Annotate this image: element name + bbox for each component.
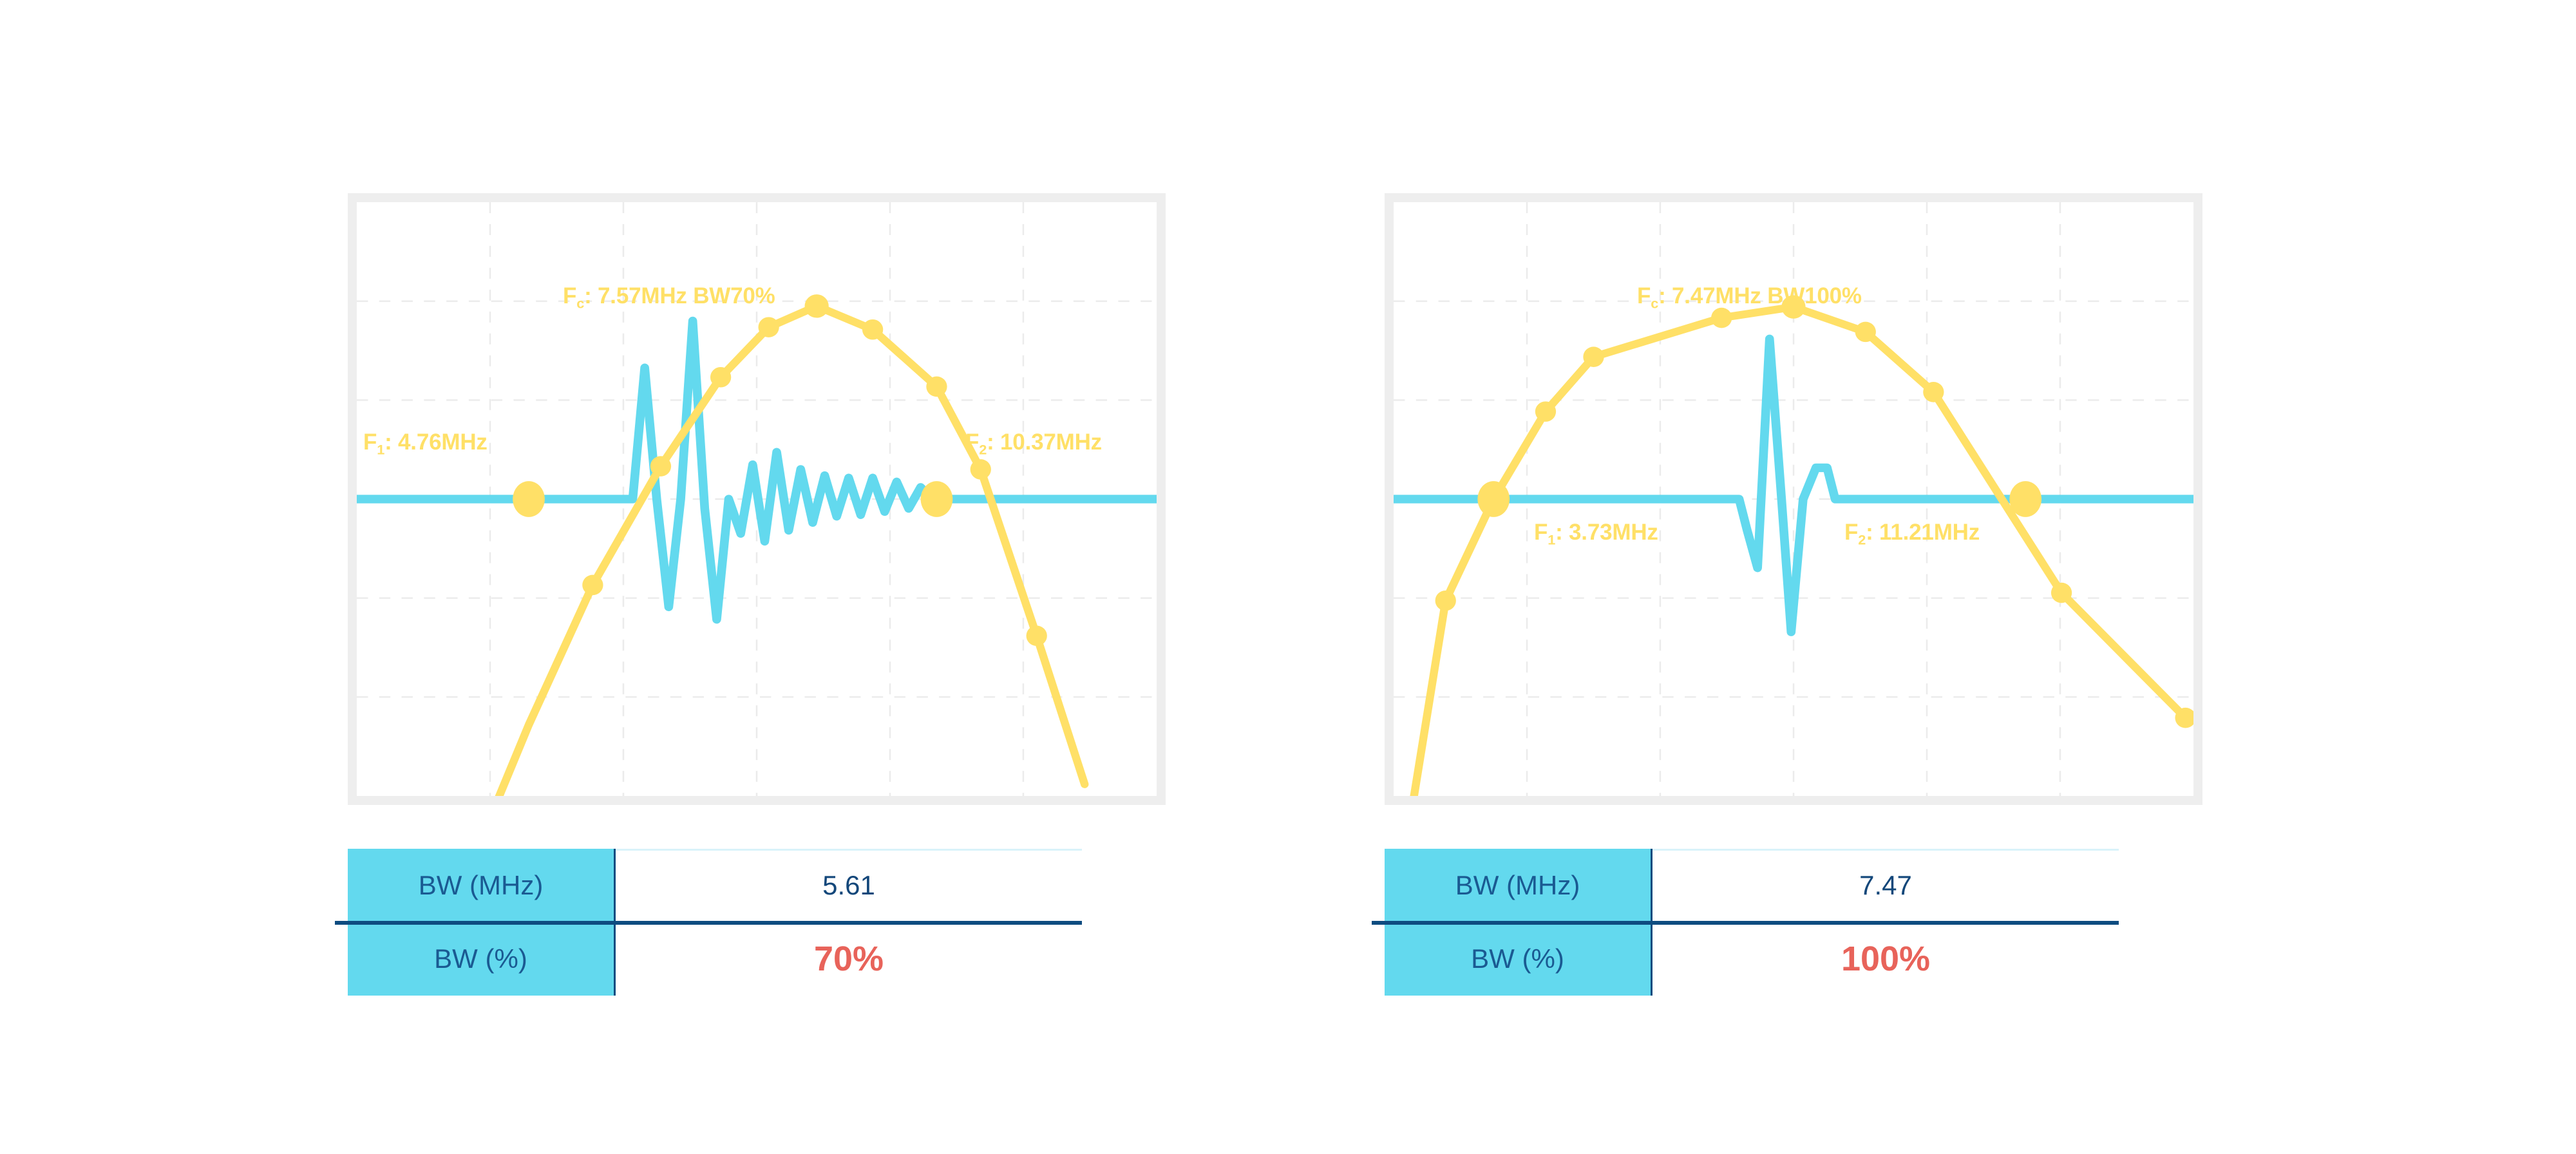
table-row: BW (MHz) 5.61 [348,849,1082,922]
label-lower-frequency-bw70: F1: 4.76MHz [363,431,488,457]
spectrum-trace-bw70 [485,306,1085,796]
table-row: BW (%) 70% [348,922,1082,996]
plot-inner-bw70: Fc: 7.57MHz BW70% F1: 4.76MHz F2: 10.37M… [357,202,1157,796]
plot-inner-bw100: Fc: 7.47MHz BW100% F1: 3.73MHz F2: 11.21… [1394,202,2193,796]
label-f2-symbol: F [965,430,979,455]
spectrum-markers-bw100 [1435,295,2193,728]
table-header-bw-mhz: BW (MHz) [348,849,616,922]
label-upper-frequency-bw70: F2: 10.37MHz [965,431,1102,457]
table-top-rule [1653,849,2119,851]
label-fc-subscript: c [576,296,584,312]
marker-f1-bw70 [513,481,545,517]
panel-bw70: Fc: 7.57MHz BW70% F1: 4.76MHz F2: 10.37M… [348,193,1185,996]
label-f2-symbol: F [1844,520,1858,545]
table-value-bw-percent: 70% [616,922,1082,996]
results-table-bw100: BW (MHz) 7.47 BW (%) 100% [1385,849,2119,996]
label-f2-text: : 10.37MHz [987,430,1102,455]
label-center-frequency-bw100: Fc: 7.47MHz BW100% [1637,285,1862,310]
marker-f1-bw100 [1477,481,1510,517]
label-f1-symbol: F [1534,520,1548,545]
spectrum-plot-bw70: Fc: 7.57MHz BW70% F1: 4.76MHz F2: 10.37M… [348,193,1166,805]
label-f2-subscript: 2 [979,442,987,458]
label-fc-text: : 7.57MHz BW70% [584,283,775,308]
label-f1-subscript: 1 [1548,532,1555,548]
label-lower-frequency-bw100: F1: 3.73MHz [1534,521,1658,547]
label-f1-text: : 4.76MHz [384,430,488,455]
table-value-bw-mhz: 5.61 [616,849,1082,922]
label-fc-text: : 7.47MHz BW100% [1658,283,1862,308]
table-row: BW (MHz) 7.47 [1385,849,2119,922]
marker-f2-bw70 [921,481,953,517]
marker-f2-bw100 [2009,481,2041,517]
spectrum-plot-bw100: Fc: 7.47MHz BW100% F1: 3.73MHz F2: 11.21… [1385,193,2202,805]
label-f2-text: : 11.21MHz [1866,520,1980,545]
spectrum-markers-bw70 [582,294,1047,646]
table-header-bw-percent: BW (%) [348,922,616,996]
table-value-bw-percent: 100% [1653,922,2119,996]
table-value-bw-mhz: 7.47 [1653,849,2119,922]
label-f1-subscript: 1 [377,442,384,458]
label-fc-symbol: F [1637,283,1651,308]
label-f1-symbol: F [363,430,377,455]
table-header-bw-percent: BW (%) [1385,922,1653,996]
table-row-divider [335,921,1082,925]
table-top-rule [616,849,1082,851]
table-row: BW (%) 100% [1385,922,2119,996]
label-fc-subscript: c [1651,296,1658,312]
results-table-bw70: BW (MHz) 5.61 BW (%) 70% [348,849,1082,996]
label-f1-text: : 3.73MHz [1555,520,1658,545]
label-fc-symbol: F [563,283,576,308]
panel-bw100: Fc: 7.47MHz BW100% F1: 3.73MHz F2: 11.21… [1385,193,2222,996]
table-header-bw-mhz: BW (MHz) [1385,849,1653,922]
table-row-divider [1372,921,2119,925]
label-upper-frequency-bw100: F2: 11.21MHz [1844,521,1980,547]
figure-canvas: Fc: 7.57MHz BW70% F1: 4.76MHz F2: 10.37M… [0,0,2576,1154]
label-f2-subscript: 2 [1858,532,1866,548]
label-center-frequency-bw70: Fc: 7.57MHz BW70% [563,285,775,310]
